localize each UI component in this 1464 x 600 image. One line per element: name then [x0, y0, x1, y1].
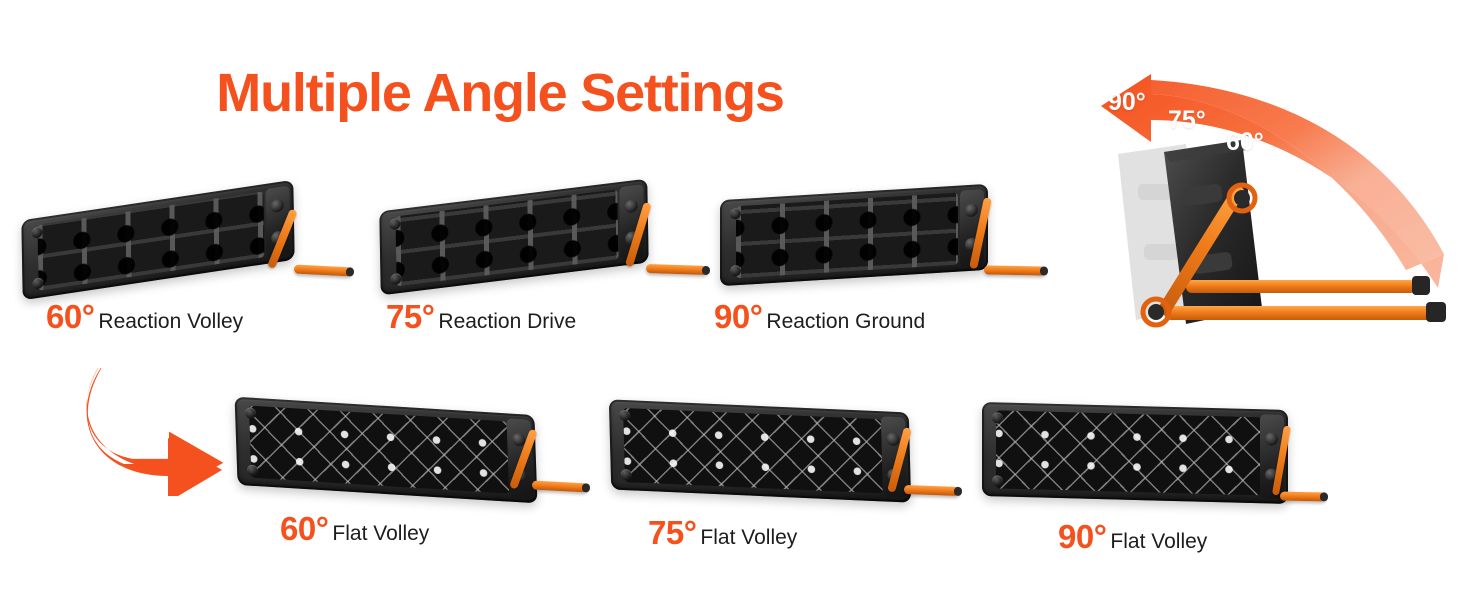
angle-range-diagram: 90° 75° 60°: [1046, 58, 1464, 333]
angle-settings-infographic: Multiple Angle Settings 60° Reaction Vol…: [0, 0, 1464, 600]
corner-bolt: [619, 410, 630, 421]
corner-bolt: [992, 412, 1003, 423]
corner-bolt: [245, 407, 256, 419]
rebounder-board: [982, 402, 1288, 504]
leg-foot-bar: [984, 265, 1046, 275]
angle-label: Flat Volley: [1110, 531, 1207, 552]
angle-label: Reaction Drive: [438, 311, 576, 332]
product-card-reaction-75: 75° Reaction Drive: [372, 173, 702, 283]
leg-foot-bar: [646, 264, 708, 275]
board-face: [395, 189, 618, 286]
product-card-reaction-90: 90° Reaction Ground: [712, 170, 1042, 280]
board-face: [736, 193, 958, 279]
board-face: [623, 408, 883, 493]
angle-label: Flat Volley: [332, 523, 429, 544]
caption-flat-75: 75° Flat Volley: [648, 516, 797, 549]
angle-label: Flat Volley: [700, 527, 797, 548]
caption-reaction-60: 60° Reaction Volley: [46, 300, 243, 333]
angle-value: 75°: [648, 516, 696, 549]
board-face: [996, 410, 1262, 495]
corner-bolt: [621, 469, 632, 480]
product-card-flat-90: 90° Flat Volley: [978, 396, 1338, 506]
corner-bolt: [247, 464, 258, 476]
board-face: [249, 406, 509, 494]
arc-label-75: 75°: [1168, 106, 1206, 135]
hex-cell-pattern: [395, 189, 618, 286]
page-title: Multiple Angle Settings: [0, 62, 1000, 124]
angle-value: 60°: [280, 512, 328, 545]
caption-flat-60: 60° Flat Volley: [280, 512, 429, 545]
product-card-reaction-60: 60° Reaction Volley: [14, 178, 354, 288]
board-illustration-reaction-75: [372, 173, 702, 283]
curved-arrow-icon: [72, 368, 244, 501]
rebounder-board: [235, 397, 538, 504]
leg-foot-bar: [532, 481, 588, 493]
caption-reaction-90: 90° Reaction Ground: [714, 300, 925, 333]
arc-label-60: 60°: [1226, 128, 1264, 157]
leg-foot-bar: [294, 264, 352, 276]
angle-value: 90°: [1058, 520, 1106, 553]
product-card-flat-60: 60° Flat Volley: [232, 392, 612, 502]
hex-cell-pattern: [37, 191, 264, 291]
angle-value: 90°: [714, 300, 762, 333]
angle-label: Reaction Ground: [766, 311, 925, 332]
corner-bolt: [992, 475, 1003, 486]
leg-foot-bar: [904, 485, 960, 496]
hex-cell-pattern: [736, 193, 958, 279]
board-illustration-flat-90: [978, 396, 1338, 506]
rebounder-board: [609, 399, 911, 502]
rebounder-board: [720, 184, 988, 286]
rebounder-board: [21, 180, 294, 300]
angle-label: Reaction Volley: [98, 311, 243, 332]
angle-value: 75°: [386, 300, 434, 333]
arc-label-90: 90°: [1108, 88, 1146, 117]
diamond-mesh-pattern: [249, 406, 509, 494]
caption-reaction-75: 75° Reaction Drive: [386, 300, 576, 333]
product-card-flat-75: 75° Flat Volley: [606, 394, 986, 504]
board-illustration-flat-75: [606, 394, 986, 504]
board-face: [37, 191, 264, 291]
diamond-mesh-pattern: [623, 408, 883, 493]
angle-value: 60°: [46, 300, 94, 333]
rebounder-board: [379, 179, 648, 296]
leg-foot-bar: [1280, 492, 1326, 502]
diamond-mesh-pattern: [996, 410, 1262, 495]
caption-flat-90: 90° Flat Volley: [1058, 520, 1207, 553]
board-illustration-reaction-90: [712, 170, 1042, 280]
board-illustration-reaction-60: [14, 178, 354, 288]
board-illustration-flat-60: [232, 392, 612, 502]
